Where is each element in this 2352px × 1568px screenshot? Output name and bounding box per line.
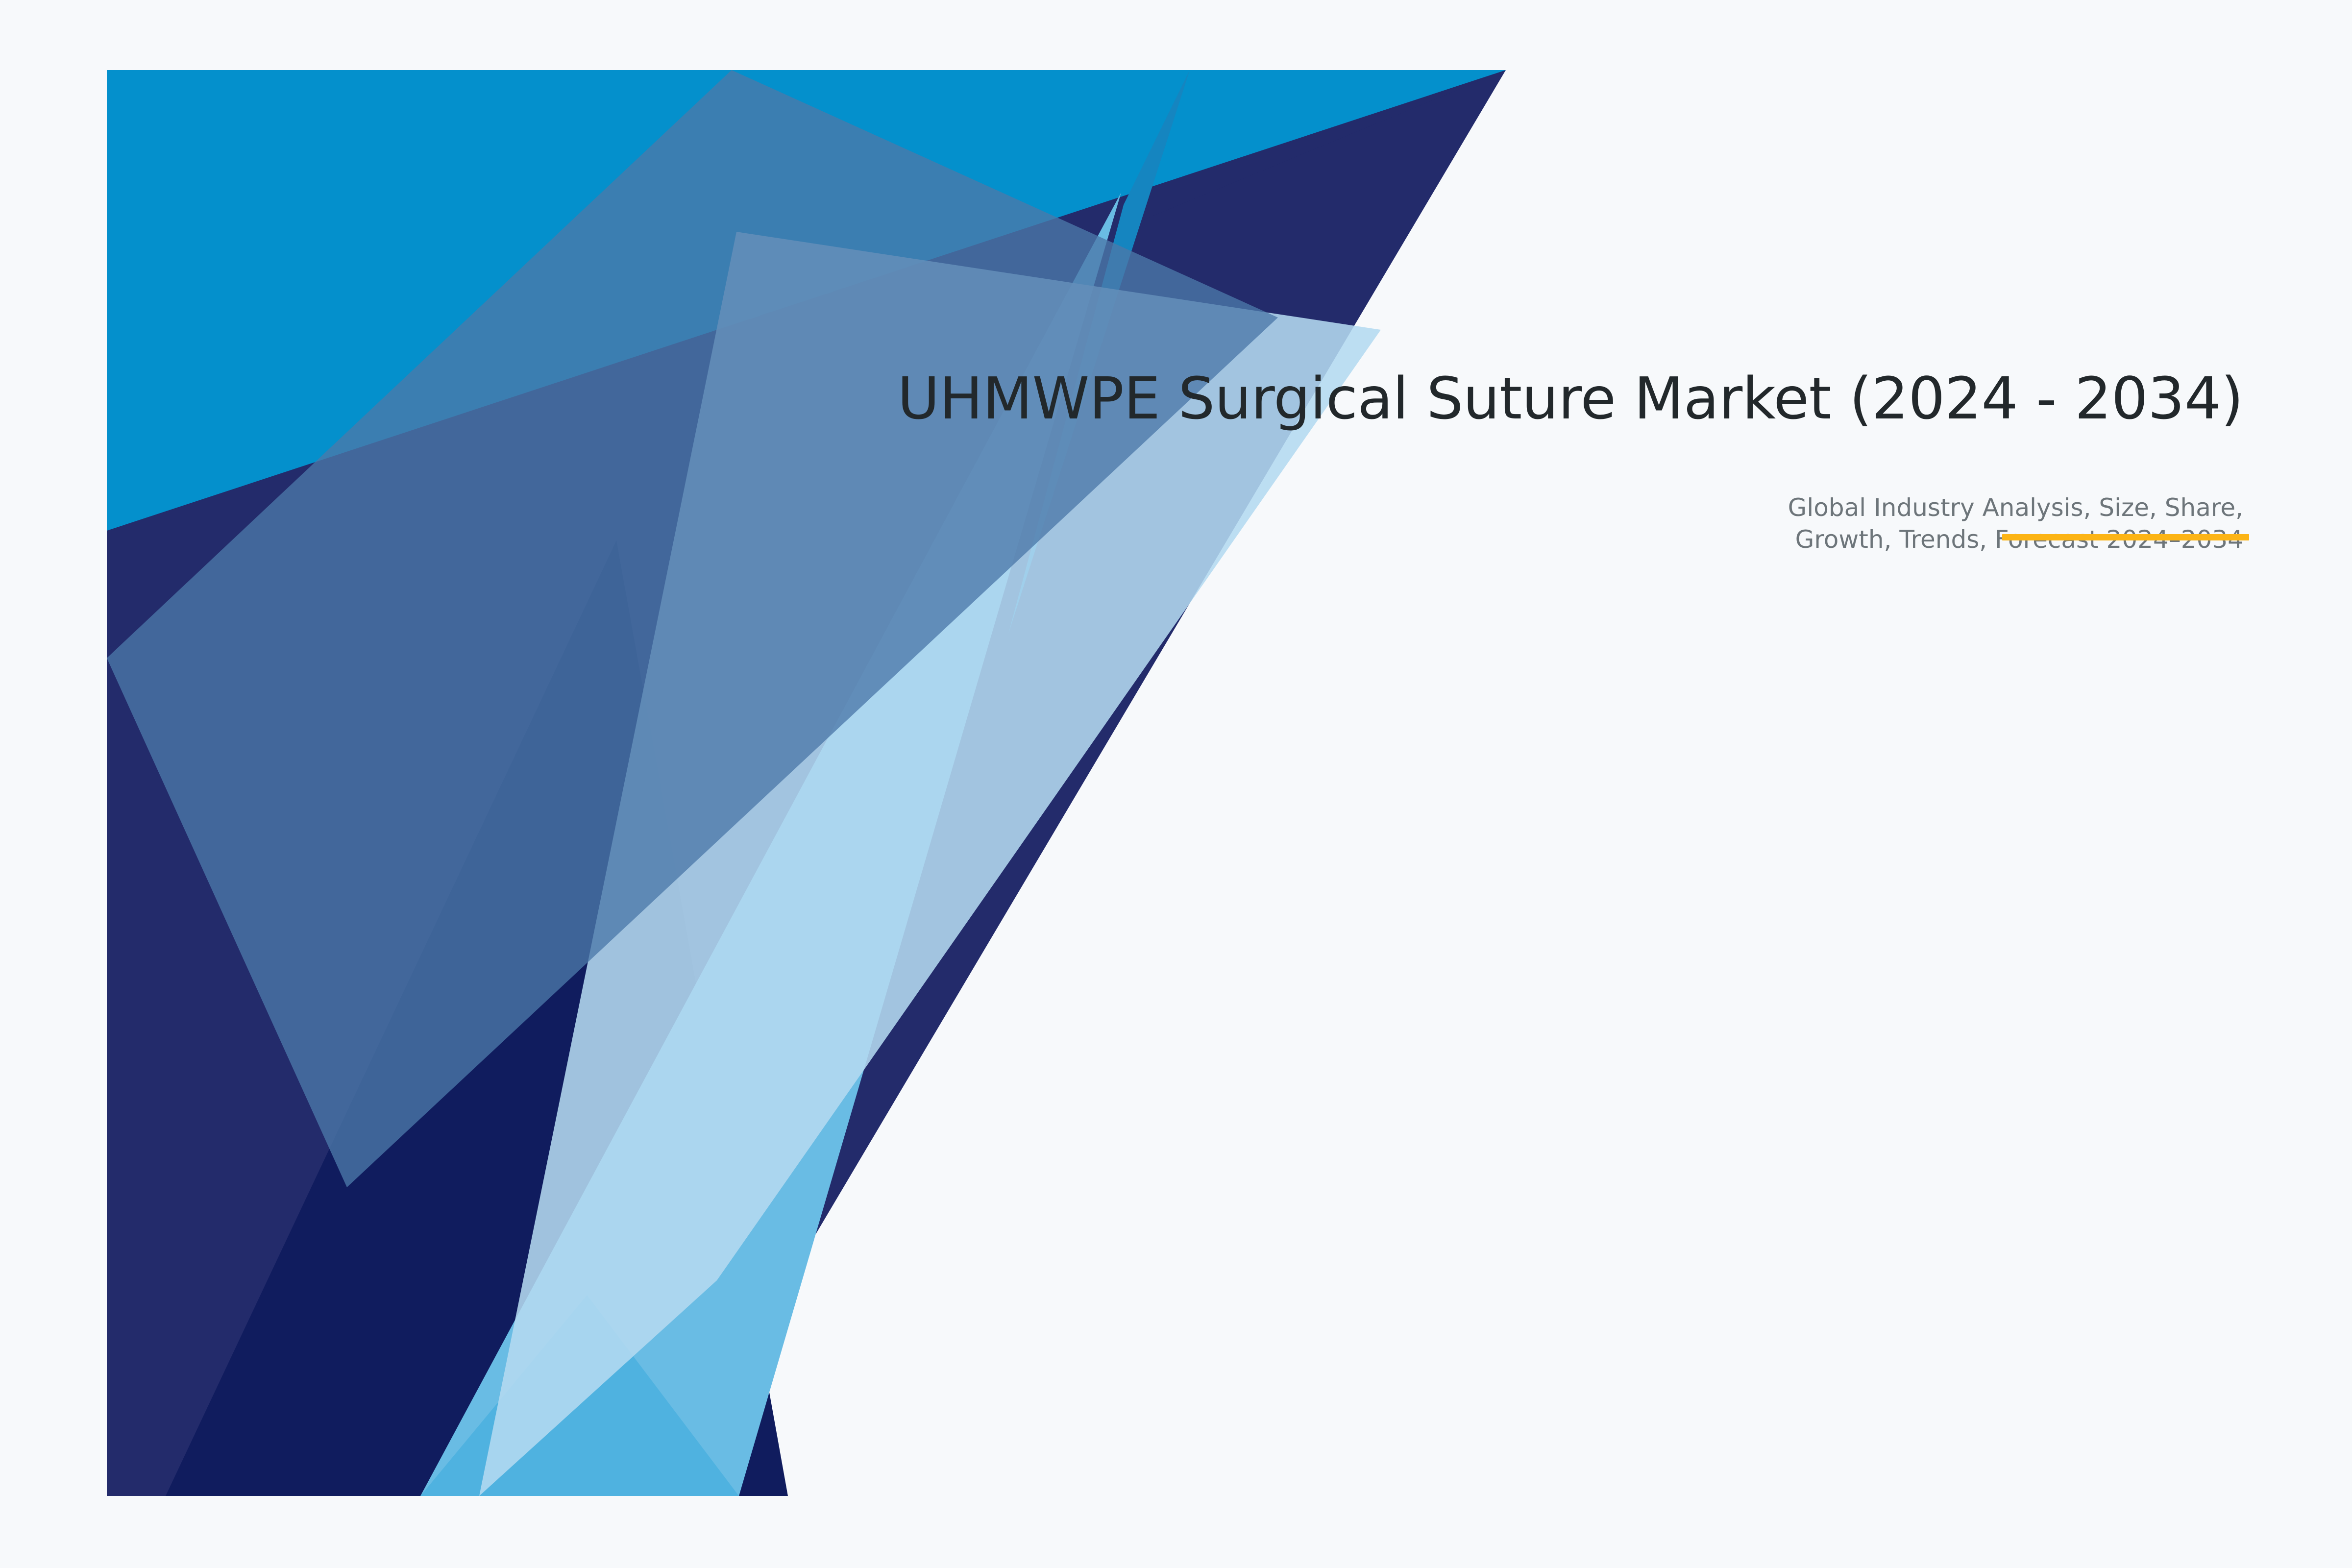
title-wrapper: UHMWPE Surgical Suture Market (2024 - 20… [735, 363, 2243, 434]
slide-text-block: UHMWPE Surgical Suture Market (2024 - 20… [735, 363, 2243, 556]
abstract-geometric-artwork [107, 70, 1511, 1496]
title-accent-underline [2002, 534, 2249, 540]
title-slide: UHMWPE Surgical Suture Market (2024 - 20… [0, 0, 2352, 1568]
page-title: UHMWPE Surgical Suture Market (2024 - 20… [735, 363, 2243, 434]
artwork-svg [107, 70, 1511, 1496]
